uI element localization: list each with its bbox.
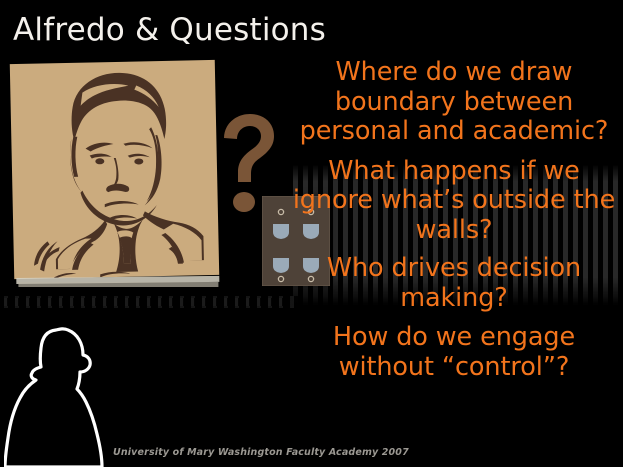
stencil-portrait-card xyxy=(10,60,219,279)
presentation-slide: Alfredo & Questions xyxy=(0,0,623,467)
question-item: Who drives decision making? xyxy=(285,254,623,313)
question-item: How do we engage without “control”? xyxy=(285,323,623,382)
paper-stack-edge-bottom xyxy=(18,282,218,287)
question-item: Where do we draw boundary between person… xyxy=(285,58,623,147)
man-in-hat-silhouette-outline xyxy=(4,318,129,467)
question-list: Where do we draw boundary between person… xyxy=(285,58,623,391)
question-item: What happens if we ignore what’s outside… xyxy=(285,157,623,246)
slide-title: Alfredo & Questions xyxy=(13,12,326,48)
footer-credit: University of Mary Washington Faculty Ac… xyxy=(113,447,409,458)
stencil-portrait-of-man-in-suit-and-tie xyxy=(10,60,219,279)
vertical-stripe-texture-left-edge xyxy=(0,298,290,306)
